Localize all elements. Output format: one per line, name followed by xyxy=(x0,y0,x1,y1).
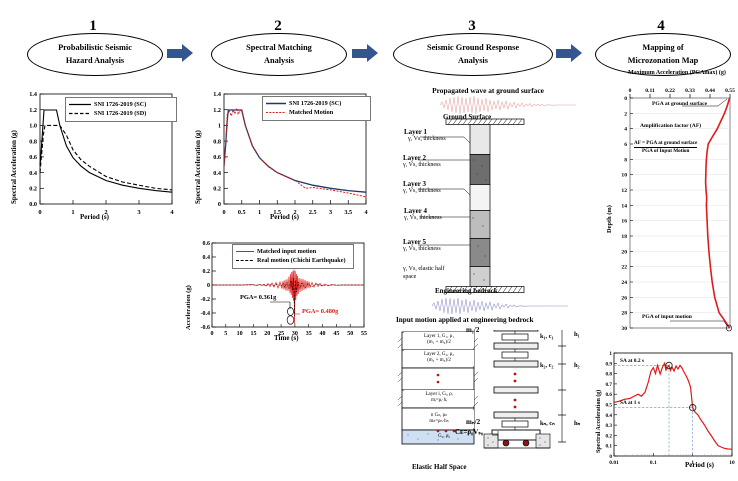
design-spectra-ylabel: Spectral Acceleration (g) xyxy=(10,130,18,204)
layer-4-name: Layer 4 xyxy=(404,207,442,215)
sa-02s-label: SA at 0.2 s xyxy=(620,358,644,364)
pga-depth-svg: 00.110.22 0.330.440.55 024 6810 121416 1… xyxy=(600,78,738,340)
legend-swatch-real xyxy=(236,258,254,263)
svg-text:0.8: 0.8 xyxy=(29,138,37,145)
pga-input-motion-annotation: PGA of input motion xyxy=(642,314,692,320)
svg-text:0: 0 xyxy=(38,209,41,216)
svg-text:10: 10 xyxy=(729,460,735,466)
arrow-2-to-3 xyxy=(352,44,378,62)
time-history-ylabel: Acceleration (g) xyxy=(185,285,192,330)
layer-5-label: Layer 5 γ, Vs, thickness xyxy=(403,238,441,252)
svg-text:0.2: 0.2 xyxy=(606,433,613,439)
svg-text:0.55: 0.55 xyxy=(725,88,735,94)
svg-text:10: 10 xyxy=(237,331,243,337)
spring-label-1: k₁, c₁ xyxy=(540,333,553,340)
svg-text:0: 0 xyxy=(207,283,210,289)
af-formula-denominator: PGA of Input Motion xyxy=(634,148,697,155)
svg-text:20: 20 xyxy=(621,249,627,255)
design-spectra-xlabel: Period (s) xyxy=(80,213,109,221)
svg-text:0.33: 0.33 xyxy=(685,88,695,94)
svg-text:1.4: 1.4 xyxy=(213,91,221,98)
pga-480-annotation: PGA= 0.480g xyxy=(302,308,338,315)
lm-halfspace-label: G₀, ρ₀ xyxy=(438,434,450,439)
legend-label-matched-input: Matched input motion xyxy=(257,247,316,256)
mass-block-base xyxy=(492,430,540,440)
svg-text:-0.6: -0.6 xyxy=(201,325,211,331)
svg-text:15: 15 xyxy=(251,331,257,337)
mass-block-n1 xyxy=(494,412,538,418)
matched-spectra-xlabel: Period (s) xyxy=(270,213,299,221)
layer-3-name: Layer 3 xyxy=(403,180,441,188)
svg-text:0.1: 0.1 xyxy=(606,444,613,450)
layer-2-label: Layer 2 γ, Vs, thickness xyxy=(403,154,441,168)
chart-design-spectra: 0.00.2 0.40.6 0.81.0 1.21.4 012 34 Spect… xyxy=(2,88,182,233)
layer-2-block xyxy=(470,155,490,185)
af-formula: AF = PGA at ground surface PGA of Input … xyxy=(634,140,697,155)
lm-layer-2-line2: (m₂ + m₃)/2 xyxy=(424,358,454,364)
svg-text:2.5: 2.5 xyxy=(309,209,317,216)
elastic-half-space-label: Elastic Half Space xyxy=(412,463,466,471)
mass-block-1 xyxy=(494,330,538,331)
lm-layer-n-line2: mₙ=ρₙ·hₙ xyxy=(429,419,448,425)
svg-text:4: 4 xyxy=(170,209,174,216)
svg-text:6: 6 xyxy=(624,142,627,148)
legend-swatch-solid xyxy=(266,101,286,106)
svg-text:30: 30 xyxy=(621,326,627,332)
svg-text:50: 50 xyxy=(347,331,353,337)
svg-text:1: 1 xyxy=(258,209,261,216)
lm-layer-1-label: Layer 1, G₁, ρ₁ (m₁ + m₂)/2 xyxy=(404,332,474,348)
step-4-label-line1: Mapping of xyxy=(628,42,699,54)
arrow-head xyxy=(182,44,193,62)
layer-3-label: Layer 3 γ, Vs, thickness xyxy=(403,180,441,194)
svg-text:0.6: 0.6 xyxy=(213,154,221,161)
svg-text:1.2: 1.2 xyxy=(213,107,221,114)
arrow-head xyxy=(367,44,378,62)
surface-spectrum-svg: 00.10.2 0.30.40.5 0.60.70.8 0.91 0.010.1 xyxy=(594,348,738,476)
layer-5-name: Layer 5 xyxy=(403,238,441,246)
svg-text:0.8: 0.8 xyxy=(606,372,613,378)
svg-text:0.5: 0.5 xyxy=(606,403,613,409)
lm-layer-n-label: n Gₙ, ρₙ mₙ=ρₙ·hₙ xyxy=(404,410,474,428)
svg-text:1: 1 xyxy=(609,351,612,357)
svg-text:0.4: 0.4 xyxy=(203,255,211,261)
layer-5-block xyxy=(470,239,490,267)
af-formula-numerator: AF = PGA at ground surface xyxy=(634,140,697,148)
dashpot-1 xyxy=(502,334,528,340)
layer-2-name: Layer 2 xyxy=(403,154,441,162)
height-label-1: h₁ xyxy=(574,331,580,338)
svg-text:1.2: 1.2 xyxy=(29,107,37,114)
step-3-label-line2: Analysis xyxy=(427,55,519,67)
half-space-label: γ, Vs, elastic half space xyxy=(403,266,455,282)
svg-text:55: 55 xyxy=(361,331,367,337)
svg-text:1: 1 xyxy=(218,123,221,130)
svg-text:0: 0 xyxy=(624,96,627,102)
svg-text:16: 16 xyxy=(621,219,627,225)
support-left xyxy=(484,434,498,448)
step-3-ellipse[interactable]: Seismic Ground Response Analysis xyxy=(393,33,553,76)
arrow-3-to-4 xyxy=(556,44,582,62)
surface-spectrum-ylabel: Spectral Acceleration (g) xyxy=(596,390,602,453)
dashpot-n xyxy=(502,421,528,427)
step-1-label-line2: Hazard Analysis xyxy=(58,55,132,67)
pga-depth-ylabel: Depth (m) xyxy=(606,205,613,233)
layer-1-name: Layer 1 xyxy=(404,128,446,136)
svg-text:26: 26 xyxy=(621,295,627,301)
svg-text:0.6: 0.6 xyxy=(29,154,37,161)
legend-label-sc: SNI 1726-2019 (SC) xyxy=(289,99,341,108)
step-2-label-line1: Spectral Matching xyxy=(246,42,312,54)
step-3-label-line1: Seismic Ground Response xyxy=(427,42,519,54)
svg-text:0.44: 0.44 xyxy=(705,88,715,94)
height-label-2: h₂ xyxy=(574,362,580,369)
svg-text:-0.4: -0.4 xyxy=(201,311,211,317)
svg-text:2: 2 xyxy=(624,111,627,117)
svg-text:0.2: 0.2 xyxy=(203,269,211,275)
arrow-head xyxy=(571,44,582,62)
step-2-label-line2: Analysis xyxy=(246,55,312,67)
svg-text:40: 40 xyxy=(320,331,326,337)
svg-text:0.8: 0.8 xyxy=(213,138,221,145)
height-label-n: hₙ xyxy=(574,419,580,427)
layer-4-label: Layer 4 γ, Vs, thickness xyxy=(404,207,442,221)
svg-text:0.9: 0.9 xyxy=(606,361,613,367)
engineering-bedrock-label: Engineering bedrock xyxy=(435,287,498,295)
mass-block-i xyxy=(494,387,538,393)
mass-block-2 xyxy=(494,343,538,349)
svg-text:18: 18 xyxy=(621,234,627,240)
legend-swatch-solid xyxy=(69,102,91,107)
svg-text:0: 0 xyxy=(629,88,632,94)
chart-pga-depth: 00.110.22 0.330.440.55 024 6810 121416 1… xyxy=(600,78,738,340)
svg-text:0.4: 0.4 xyxy=(213,170,221,177)
roller-right xyxy=(523,440,529,446)
svg-text:-0.2: -0.2 xyxy=(201,297,211,303)
svg-text:4: 4 xyxy=(624,127,627,133)
svg-text:45: 45 xyxy=(333,331,339,337)
matched-spectra-legend: SNI 1726-2019 (SC) Matched Motion xyxy=(262,96,371,121)
legend-swatch-dotted xyxy=(266,110,286,115)
half-space-block xyxy=(470,267,490,287)
lm-layer-i-label: Layer i, Gᵢ, ρᵢ mᵢ=ρᵢ·hᵢ xyxy=(404,390,474,406)
arrow-shaft xyxy=(167,49,182,58)
legend-label-sc: SNI 1726-2019 (SC) xyxy=(94,100,146,109)
svg-text:3: 3 xyxy=(137,209,141,216)
layer-3-block xyxy=(470,185,490,211)
layer-1-props: γ, Vs, thickness xyxy=(404,136,446,142)
layer-2-props: γ, Vs, thickness xyxy=(403,162,441,168)
svg-text:0.7: 0.7 xyxy=(606,382,613,388)
svg-text:0.1: 0.1 xyxy=(650,460,657,466)
svg-text:5: 5 xyxy=(224,331,227,337)
step-1-label-line1: Probabilistic Seismic xyxy=(58,42,132,54)
legend-swatch-matched xyxy=(236,249,254,254)
svg-text:0.5: 0.5 xyxy=(238,209,246,216)
svg-text:1: 1 xyxy=(71,209,74,216)
mass-label-bottom: mₙ/2 xyxy=(466,418,480,426)
spring-label-2: k₂, c₂ xyxy=(540,362,553,369)
chart-matched-spectra: 00.2 0.40.6 0.81 1.21.4 00.51 1.522.5 33… xyxy=(186,88,374,233)
svg-text:35: 35 xyxy=(306,331,312,337)
svg-text:8: 8 xyxy=(624,157,627,163)
legend-label-matched: Matched Motion xyxy=(289,108,333,117)
ground-surface-label: Ground Surface xyxy=(443,113,491,121)
svg-text:20: 20 xyxy=(264,331,270,337)
lm-layer-i-line2: mᵢ=ρᵢ·hᵢ xyxy=(425,398,452,404)
svg-text:1.0: 1.0 xyxy=(29,123,37,130)
arrow-1-to-2 xyxy=(167,44,193,62)
svg-text:0.0: 0.0 xyxy=(29,201,37,208)
input-motion-svg xyxy=(430,296,570,316)
layer-4-block xyxy=(470,211,490,239)
pga-ground-surface-annotation: PGA at ground surface xyxy=(652,101,707,107)
svg-text:0.2: 0.2 xyxy=(29,186,37,193)
svg-text:0.4: 0.4 xyxy=(29,170,37,177)
layer-5-props: γ, Vs, thickness xyxy=(403,246,441,252)
svg-text:4: 4 xyxy=(364,209,367,216)
svg-text:0: 0 xyxy=(211,331,214,337)
legend-label-real-motion: Real motion (Chichi Earthquake) xyxy=(257,256,346,265)
svg-text:0: 0 xyxy=(222,209,225,216)
layer-1-block xyxy=(470,125,490,155)
svg-text:0.01: 0.01 xyxy=(609,460,619,466)
pga-361-annotation: PGA= 0.361g xyxy=(240,294,276,301)
lm-layer-2-label: Layer 2, G₂, ρ₂ (m₂ + m₃)/2 xyxy=(404,350,474,366)
layer-1-label: Layer 1 γ, Vs, thickness xyxy=(404,128,446,142)
mass-block-3 xyxy=(494,361,538,367)
chart-surface-spectrum: 00.10.2 0.30.40.5 0.60.70.8 0.91 0.010.1 xyxy=(594,348,738,476)
lm-layer-1-line2: (m₁ + m₂)/2 xyxy=(424,340,454,346)
legend-label-sd: SNI 1726-2019 (SD) xyxy=(94,109,146,118)
pga-depth-title: Maximum Acceleration (PGAmax) (g) xyxy=(614,70,738,76)
layer-3-props: γ, Vs, thickness xyxy=(403,188,441,194)
roller-left xyxy=(503,440,509,446)
layer-4-props: γ, Vs, thickness xyxy=(404,215,442,221)
time-history-xlabel: Time (s) xyxy=(274,334,299,342)
svg-text:1.4: 1.4 xyxy=(29,91,37,98)
svg-text:22: 22 xyxy=(621,265,627,271)
chart-time-history: 0.60.40.2 0-0.2-0.4 -0.6 0510 152025 303… xyxy=(182,238,374,350)
dashpot-2 xyxy=(502,352,528,358)
step-1-ellipse[interactable]: Probabilistic Seismic Hazard Analysis xyxy=(27,33,163,76)
arrow-shaft xyxy=(352,49,367,58)
svg-text:0.4: 0.4 xyxy=(606,413,613,419)
mass-label-top: m₁/2 xyxy=(466,326,479,334)
step-4-label-line2: Microzonation Map xyxy=(628,55,699,67)
sa-1s-label: SA at 1 s xyxy=(620,400,640,406)
spring-label-n: kₙ, cₙ xyxy=(540,419,555,427)
matched-spectra-ylabel: Spectral Acceleration (g) xyxy=(194,130,202,204)
svg-text:28: 28 xyxy=(621,311,627,317)
svg-text:0.2: 0.2 xyxy=(213,186,221,193)
svg-text:0.11: 0.11 xyxy=(645,88,655,94)
svg-text:0: 0 xyxy=(218,201,221,208)
lm-dots-box xyxy=(402,368,474,390)
surface-spectrum-xlabel: Period (s) xyxy=(685,461,714,469)
svg-text:24: 24 xyxy=(621,280,627,286)
svg-text:3: 3 xyxy=(329,209,332,216)
svg-text:0.3: 0.3 xyxy=(606,423,613,429)
support-right xyxy=(536,434,550,448)
svg-text:3.5: 3.5 xyxy=(344,209,352,216)
legend-swatch-dashed xyxy=(69,111,91,116)
svg-text:0.6: 0.6 xyxy=(606,392,613,398)
svg-text:12: 12 xyxy=(621,188,627,194)
amplification-factor-annotation: Amplification factor (AF) xyxy=(640,123,701,129)
svg-text:0.22: 0.22 xyxy=(665,88,675,94)
arrow-shaft xyxy=(556,49,571,58)
svg-text:10: 10 xyxy=(621,173,627,179)
damper-coefficient-label: Cᴇ=ρ₀Vₛ₀ xyxy=(455,428,483,436)
svg-text:14: 14 xyxy=(621,203,627,209)
svg-text:0.6: 0.6 xyxy=(203,241,211,247)
time-history-legend: Matched input motion Real motion (Chichi… xyxy=(232,244,354,269)
step-2-ellipse[interactable]: Spectral Matching Analysis xyxy=(211,33,347,76)
design-spectra-legend: SNI 1726-2019 (SC) SNI 1726-2019 (SD) xyxy=(65,97,177,122)
input-motion-caption: Input motion applied at engineering bedr… xyxy=(396,316,533,324)
